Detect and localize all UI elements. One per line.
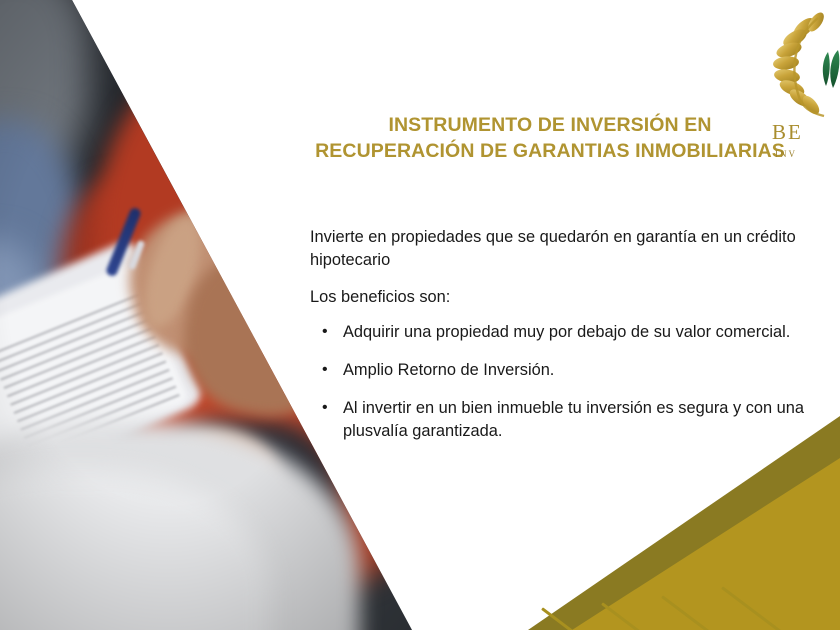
gold-accent-line — [661, 595, 791, 630]
gold-accent-line — [721, 586, 809, 630]
green-leaf-icon — [823, 50, 840, 92]
logo-tagline-text: INV — [775, 149, 797, 159]
logo-brand-text: BE — [772, 120, 803, 145]
intro-paragraph: Invierte en propiedades que se quedarón … — [310, 226, 824, 272]
benefits-list: Adquirir una propiedad muy por debajo de… — [310, 321, 824, 443]
gold-accent-line — [541, 607, 750, 630]
slide-body: Invierte en propiedades que se quedarón … — [310, 226, 824, 458]
laurel-wreath-icon — [766, 8, 840, 120]
title-line-2: RECUPERACIÓN DE GARANTIAS INMOBILIARIAS — [292, 138, 808, 164]
list-item: Al invertir en un bien inmueble tu inver… — [310, 397, 824, 443]
list-item: Amplio Retorno de Inversión. — [310, 359, 824, 382]
benefits-lead-in: Los beneficios son: — [310, 286, 824, 309]
title-line-1: INSTRUMENTO DE INVERSIÓN EN — [292, 112, 808, 138]
presentation-slide: INSTRUMENTO DE INVERSIÓN EN RECUPERACIÓN… — [0, 0, 840, 630]
slide-title: INSTRUMENTO DE INVERSIÓN EN RECUPERACIÓN… — [292, 112, 808, 164]
list-item: Adquirir una propiedad muy por debajo de… — [310, 321, 824, 344]
gold-accent-line — [601, 602, 772, 630]
laurel-wreath-logo: BE INV — [766, 8, 840, 172]
